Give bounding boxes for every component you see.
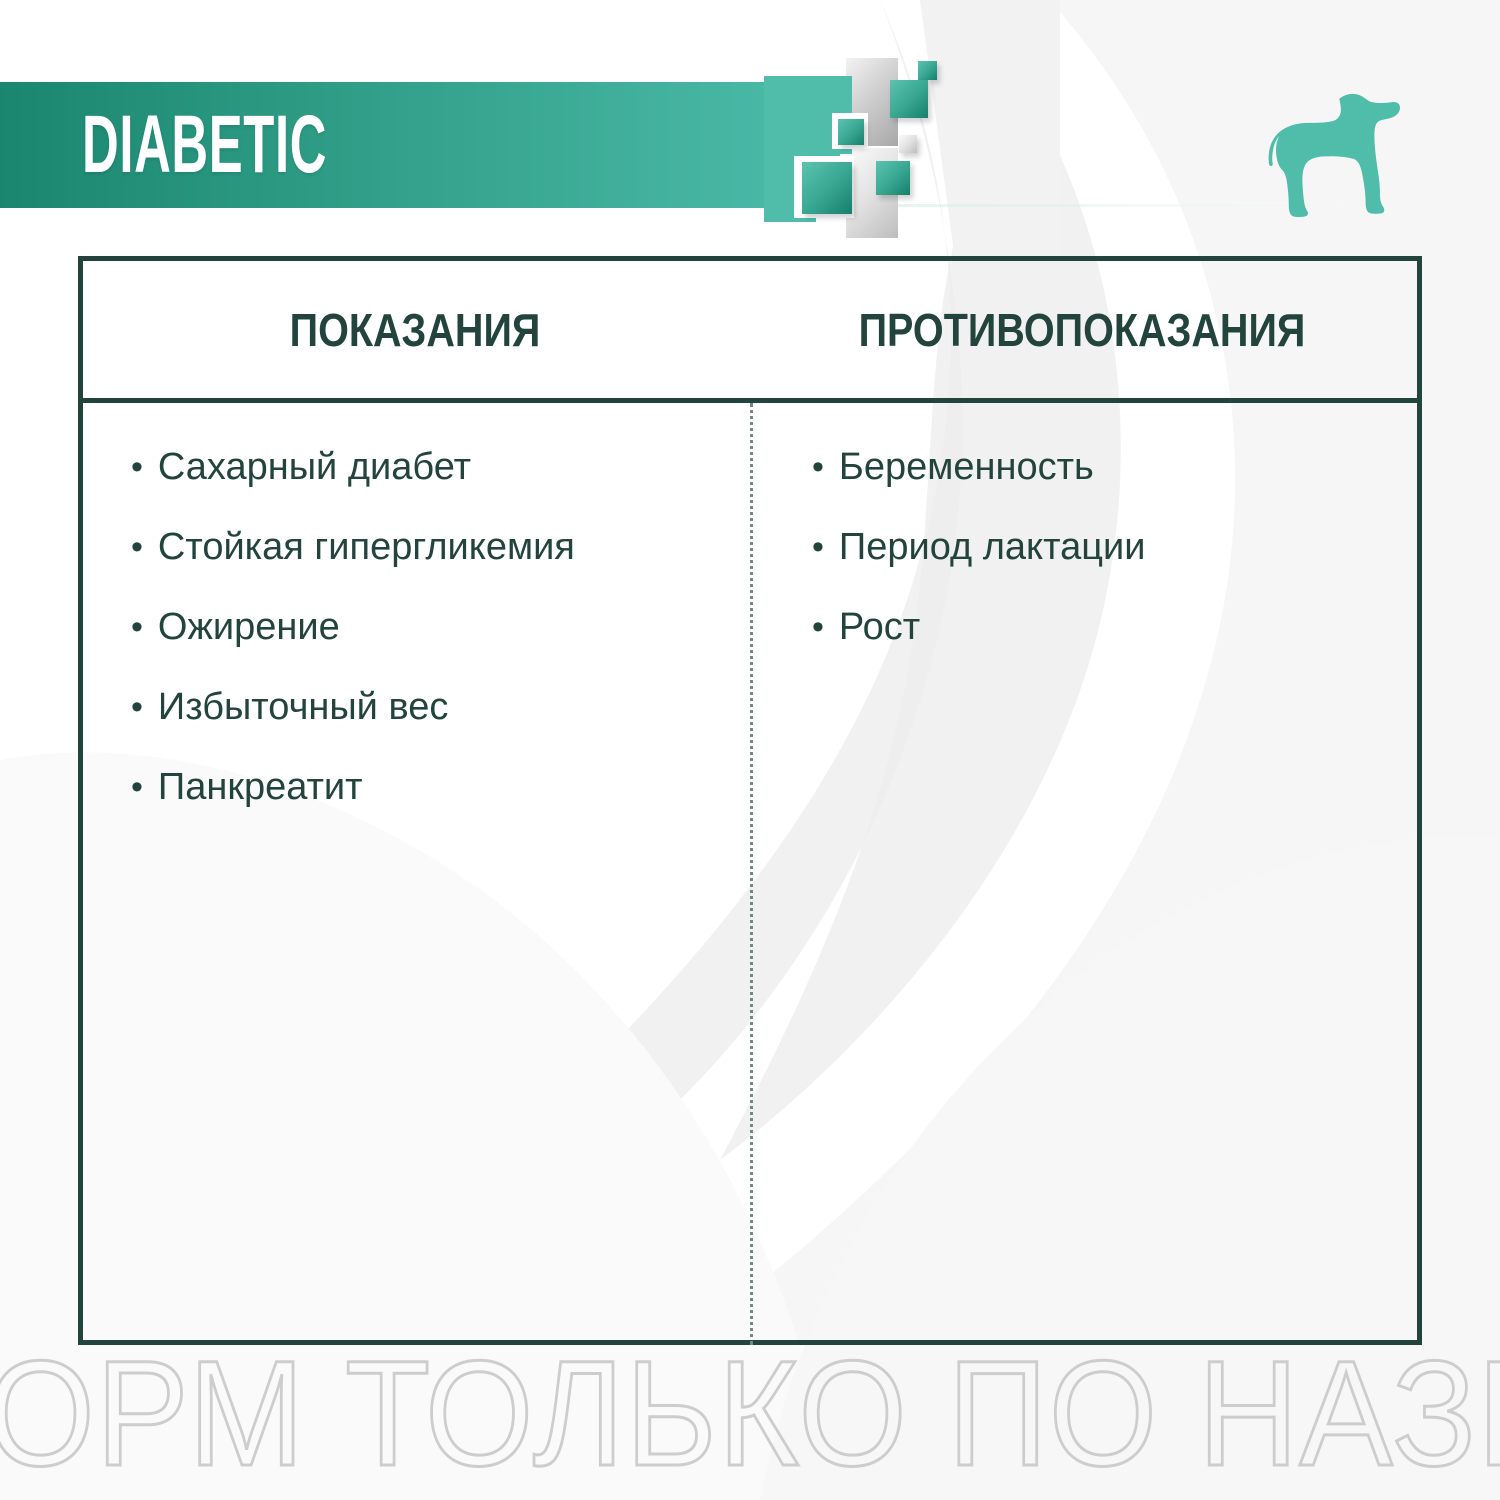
contraindications-column: • Беременность • Период лактации • Рост <box>750 403 1417 1345</box>
mosaic-squares-decoration <box>780 58 955 223</box>
list-item-label: Ожирение <box>158 605 340 649</box>
mosaic-square-teal-1 <box>838 119 864 145</box>
mosaic-square-teal-2 <box>918 61 937 80</box>
bullet-icon: • <box>812 445 824 489</box>
list-item: • Панкреатит <box>131 765 750 809</box>
indications-table: ПОКАЗАНИЯ ПРОТИВОПОКАЗАНИЯ • Сахарный ди… <box>78 256 1422 1345</box>
mosaic-square-teal-3 <box>890 80 928 118</box>
page-title: DIABETIC <box>82 86 327 204</box>
list-item-label: Избыточный вес <box>158 685 448 729</box>
indications-column: • Сахарный диабет • Стойкая гипергликеми… <box>83 403 750 1345</box>
dog-silhouette-icon <box>1256 84 1416 229</box>
poster-page: DIABETIC ПОКАЗАНИЯ ПРОТИВОПОКАЗАНИЯ <box>0 0 1500 1500</box>
list-item-label: Стойкая гипергликемия <box>158 525 575 569</box>
footer-notice-text: ИСПОЛЬЗУЙТЕ КОРМ ТОЛЬКО ПО НАЗНАЧЕНИЮ ВР… <box>0 1356 1500 1488</box>
column-header-contraindications: ПРОТИВОПОКАЗАНИЯ <box>794 261 1370 398</box>
list-item: • Период лактации <box>812 525 1417 569</box>
mosaic-square-teal-5 <box>802 162 852 214</box>
bullet-icon: • <box>131 765 143 809</box>
bullet-icon: • <box>131 685 143 729</box>
list-item: • Рост <box>812 605 1417 649</box>
list-item-label: Сахарный диабет <box>158 445 471 489</box>
bullet-icon: • <box>812 605 824 649</box>
bullet-icon: • <box>131 525 143 569</box>
table-header-row: ПОКАЗАНИЯ ПРОТИВОПОКАЗАНИЯ <box>83 261 1417 403</box>
list-item: • Сахарный диабет <box>131 445 750 489</box>
mosaic-square-gray-3 <box>899 135 917 153</box>
list-item: • Беременность <box>812 445 1417 489</box>
column-header-indications: ПОКАЗАНИЯ <box>129 261 700 398</box>
list-item: • Избыточный вес <box>131 685 750 729</box>
list-item: • Стойкая гипергликемия <box>131 525 750 569</box>
bullet-icon: • <box>812 525 824 569</box>
bullet-icon: • <box>131 445 143 489</box>
bullet-icon: • <box>131 605 143 649</box>
list-item-label: Период лактации <box>839 525 1146 569</box>
list-item-label: Рост <box>839 605 920 649</box>
list-item: • Ожирение <box>131 605 750 649</box>
mosaic-square-teal-4 <box>876 161 910 195</box>
list-item-label: Панкреатит <box>158 765 363 809</box>
footer-notice-area: ИСПОЛЬЗУЙТЕ КОРМ ТОЛЬКО ПО НАЗНАЧЕНИЮ ВР… <box>0 1356 1500 1500</box>
column-divider-dotted <box>750 403 753 1345</box>
list-item-label: Беременность <box>839 445 1094 489</box>
